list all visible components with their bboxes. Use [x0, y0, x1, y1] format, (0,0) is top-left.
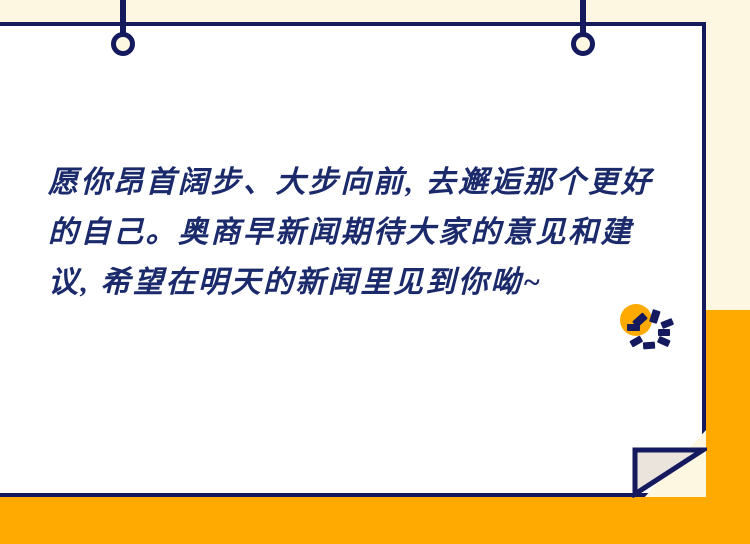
hanging-ring-left: [106, 0, 140, 70]
hook-ring-icon: [111, 32, 135, 56]
hook-ring-icon: [571, 32, 595, 56]
greeting-card: 愿你昂首阔步、大步向前, 去邂逅那个更好的自己。奥商早新闻期待大家的意见和建议,…: [0, 0, 750, 544]
orange-bottom-band: [0, 497, 750, 544]
page-fold-corner: [631, 446, 707, 498]
paper-left-edge-mask: [0, 22, 8, 497]
orange-right-band: [706, 310, 750, 544]
message-text: 愿你昂首阔步、大步向前, 去邂逅那个更好的自己。奥商早新闻期待大家的意见和建议,…: [48, 158, 666, 308]
sun-sparkle-icon: [614, 298, 676, 356]
hanging-ring-right: [566, 0, 600, 70]
